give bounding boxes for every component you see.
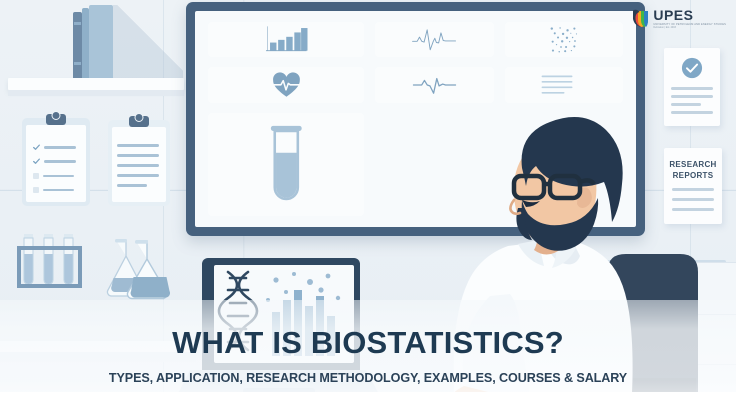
upes-flame-shield-icon [633, 9, 650, 28]
checklist-clipboard [22, 118, 90, 206]
notes-row [117, 144, 159, 147]
upes-logo-name: UPES [653, 8, 726, 22]
checklist-row [33, 173, 74, 179]
panel-bar-chart [208, 22, 364, 57]
panel-test-tube [208, 113, 364, 216]
check-circle-icon [681, 57, 703, 79]
wall-shelf [8, 78, 184, 90]
test-tube-icon [255, 122, 318, 207]
checkbox-empty-icon [33, 187, 39, 193]
bar-chart-icon [219, 25, 353, 54]
wall-shelf-edge [8, 90, 184, 96]
notes-row [117, 154, 159, 157]
ecg-wave-icon [386, 74, 483, 96]
notes-line [117, 184, 147, 187]
upes-logo-text: UPES UNIVERSITY OF PETROLEUM AND ENERGY … [653, 8, 726, 29]
checklist-line [43, 189, 74, 192]
book [89, 5, 113, 78]
checklist-row [33, 144, 76, 151]
flasks-group [102, 238, 172, 300]
notes-line [117, 174, 159, 177]
notes-row [117, 174, 159, 177]
notes-line [117, 144, 159, 147]
upes-logo-tagline2: Dehradun | Est. 2003 [653, 27, 726, 29]
notes-row [117, 184, 147, 187]
banner-root: RESEARCH REPORTS [0, 0, 736, 412]
clipboard-clip-icon [46, 114, 66, 125]
notes-row [117, 164, 159, 167]
upes-logo[interactable]: UPES UNIVERSITY OF PETROLEUM AND ENERGY … [633, 8, 726, 29]
book-spine-band [74, 62, 81, 65]
clipboard-clip-icon [129, 116, 149, 127]
checklist-row [33, 187, 74, 193]
bottom-fade [0, 392, 736, 412]
checklist-line [44, 146, 76, 149]
test-tube-rack [14, 228, 94, 300]
poster-line [671, 87, 713, 90]
panel-heart-pulse [208, 67, 364, 102]
panel-scatter-plot [505, 22, 623, 57]
scatter-plot-icon [514, 25, 613, 55]
check-icon [33, 144, 40, 151]
checklist-line [44, 160, 76, 163]
book [82, 8, 89, 78]
checklist-row [33, 158, 76, 165]
notes-line [117, 154, 159, 157]
notes-line [117, 164, 159, 167]
check-icon [33, 158, 40, 165]
checklist-line [43, 175, 74, 178]
notes-clipboard [108, 120, 170, 206]
text-lines-icon [517, 74, 602, 96]
heart-pulse-icon [238, 71, 335, 99]
book-spine-band [74, 22, 81, 25]
panel-line-wave [375, 22, 493, 57]
book-shadow [113, 5, 183, 78]
checkbox-empty-icon [33, 173, 39, 179]
line-wave-icon [382, 26, 486, 54]
